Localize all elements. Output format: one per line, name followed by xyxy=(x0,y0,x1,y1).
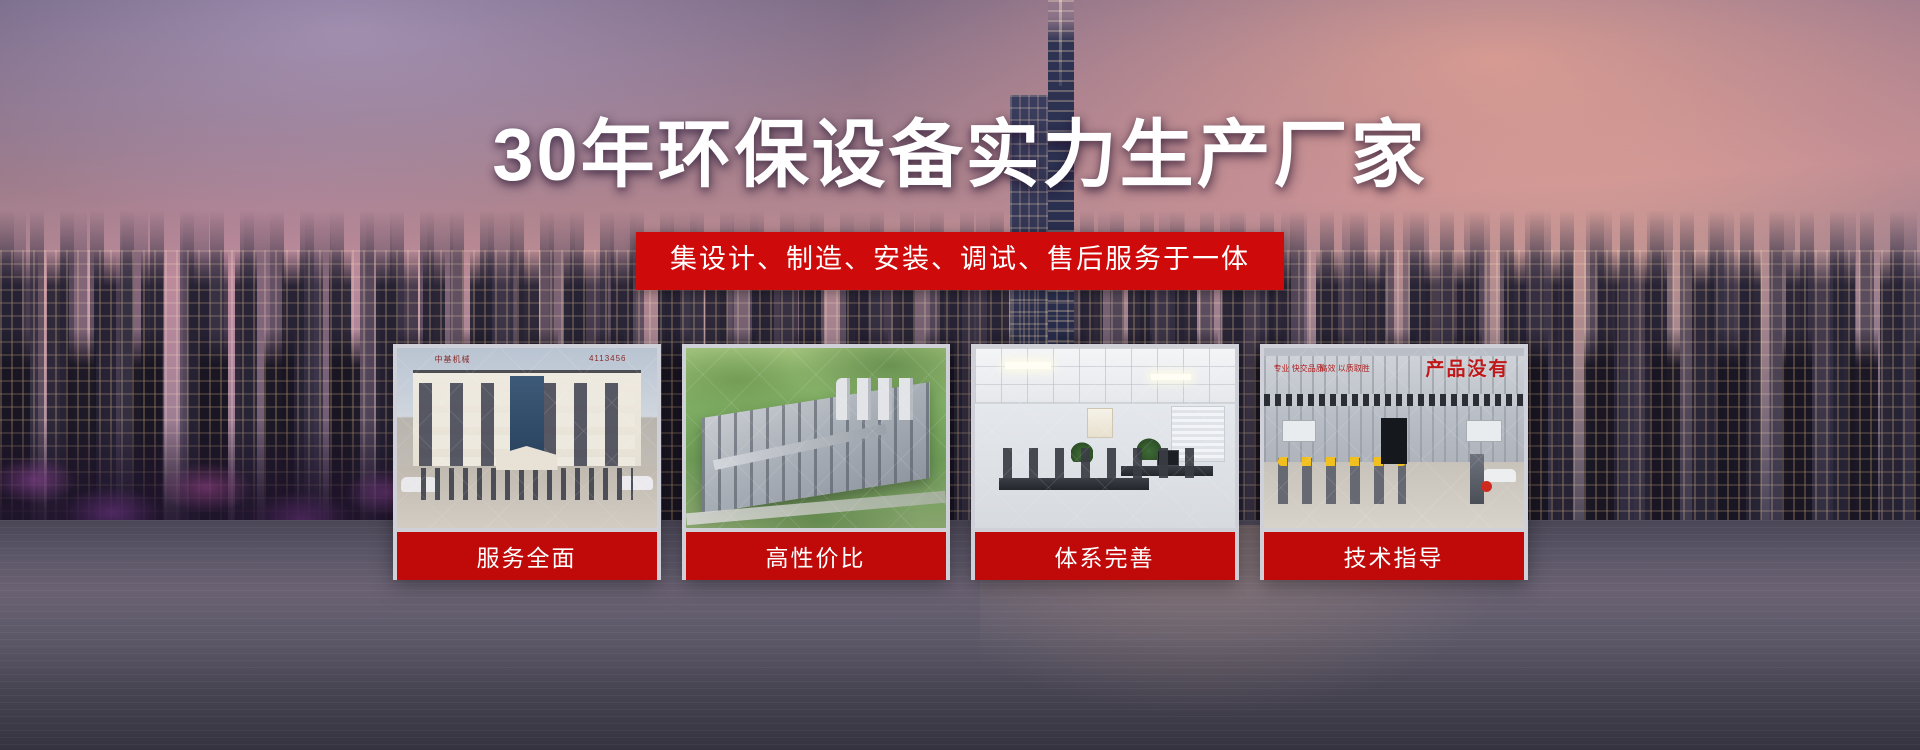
feature-card[interactable]: 体系完善 xyxy=(971,344,1239,580)
workshop-workers-briefing-photo: 专业 快交品质 高效 以质取胜 产品没有 xyxy=(1264,348,1524,528)
feature-card-caption: 体系完善 xyxy=(975,532,1235,580)
feature-card-row: 中基机械 4113456 服务全面 高性价比 xyxy=(0,344,1920,580)
hero-banner: 30年环保设备实力生产厂家 集设计、制造、安装、调试、售后服务于一体 中基机械 … xyxy=(0,0,1920,750)
company-office-building-photo: 中基机械 4113456 xyxy=(397,348,657,528)
wall-slogan-main-text: 产品没有 xyxy=(1425,354,1509,381)
wall-slogan-left-text: 专业 快交品质 xyxy=(1274,364,1324,374)
feature-card-caption: 高性价比 xyxy=(686,532,946,580)
feature-card[interactable]: 专业 快交品质 高效 以质取胜 产品没有 技术指导 xyxy=(1260,344,1528,580)
feature-card[interactable]: 高性价比 xyxy=(682,344,950,580)
feature-card[interactable]: 中基机械 4113456 服务全面 xyxy=(393,344,661,580)
company-phone-text: 4113456 xyxy=(589,354,627,363)
hero-headline: 30年环保设备实力生产厂家 xyxy=(0,118,1920,192)
office-interior-team-photo xyxy=(975,348,1235,528)
company-sign-text: 中基机械 xyxy=(435,354,471,365)
feature-card-caption: 服务全面 xyxy=(397,532,657,580)
hero-subtitle-wrapper: 集设计、制造、安装、调试、售后服务于一体 xyxy=(0,232,1920,290)
wall-slogan-left2-text: 高效 以质取胜 xyxy=(1320,364,1370,374)
feature-card-caption: 技术指导 xyxy=(1264,532,1524,580)
aerial-factory-plant-photo xyxy=(686,348,946,528)
hero-subtitle-badge: 集设计、制造、安装、调试、售后服务于一体 xyxy=(636,232,1284,290)
